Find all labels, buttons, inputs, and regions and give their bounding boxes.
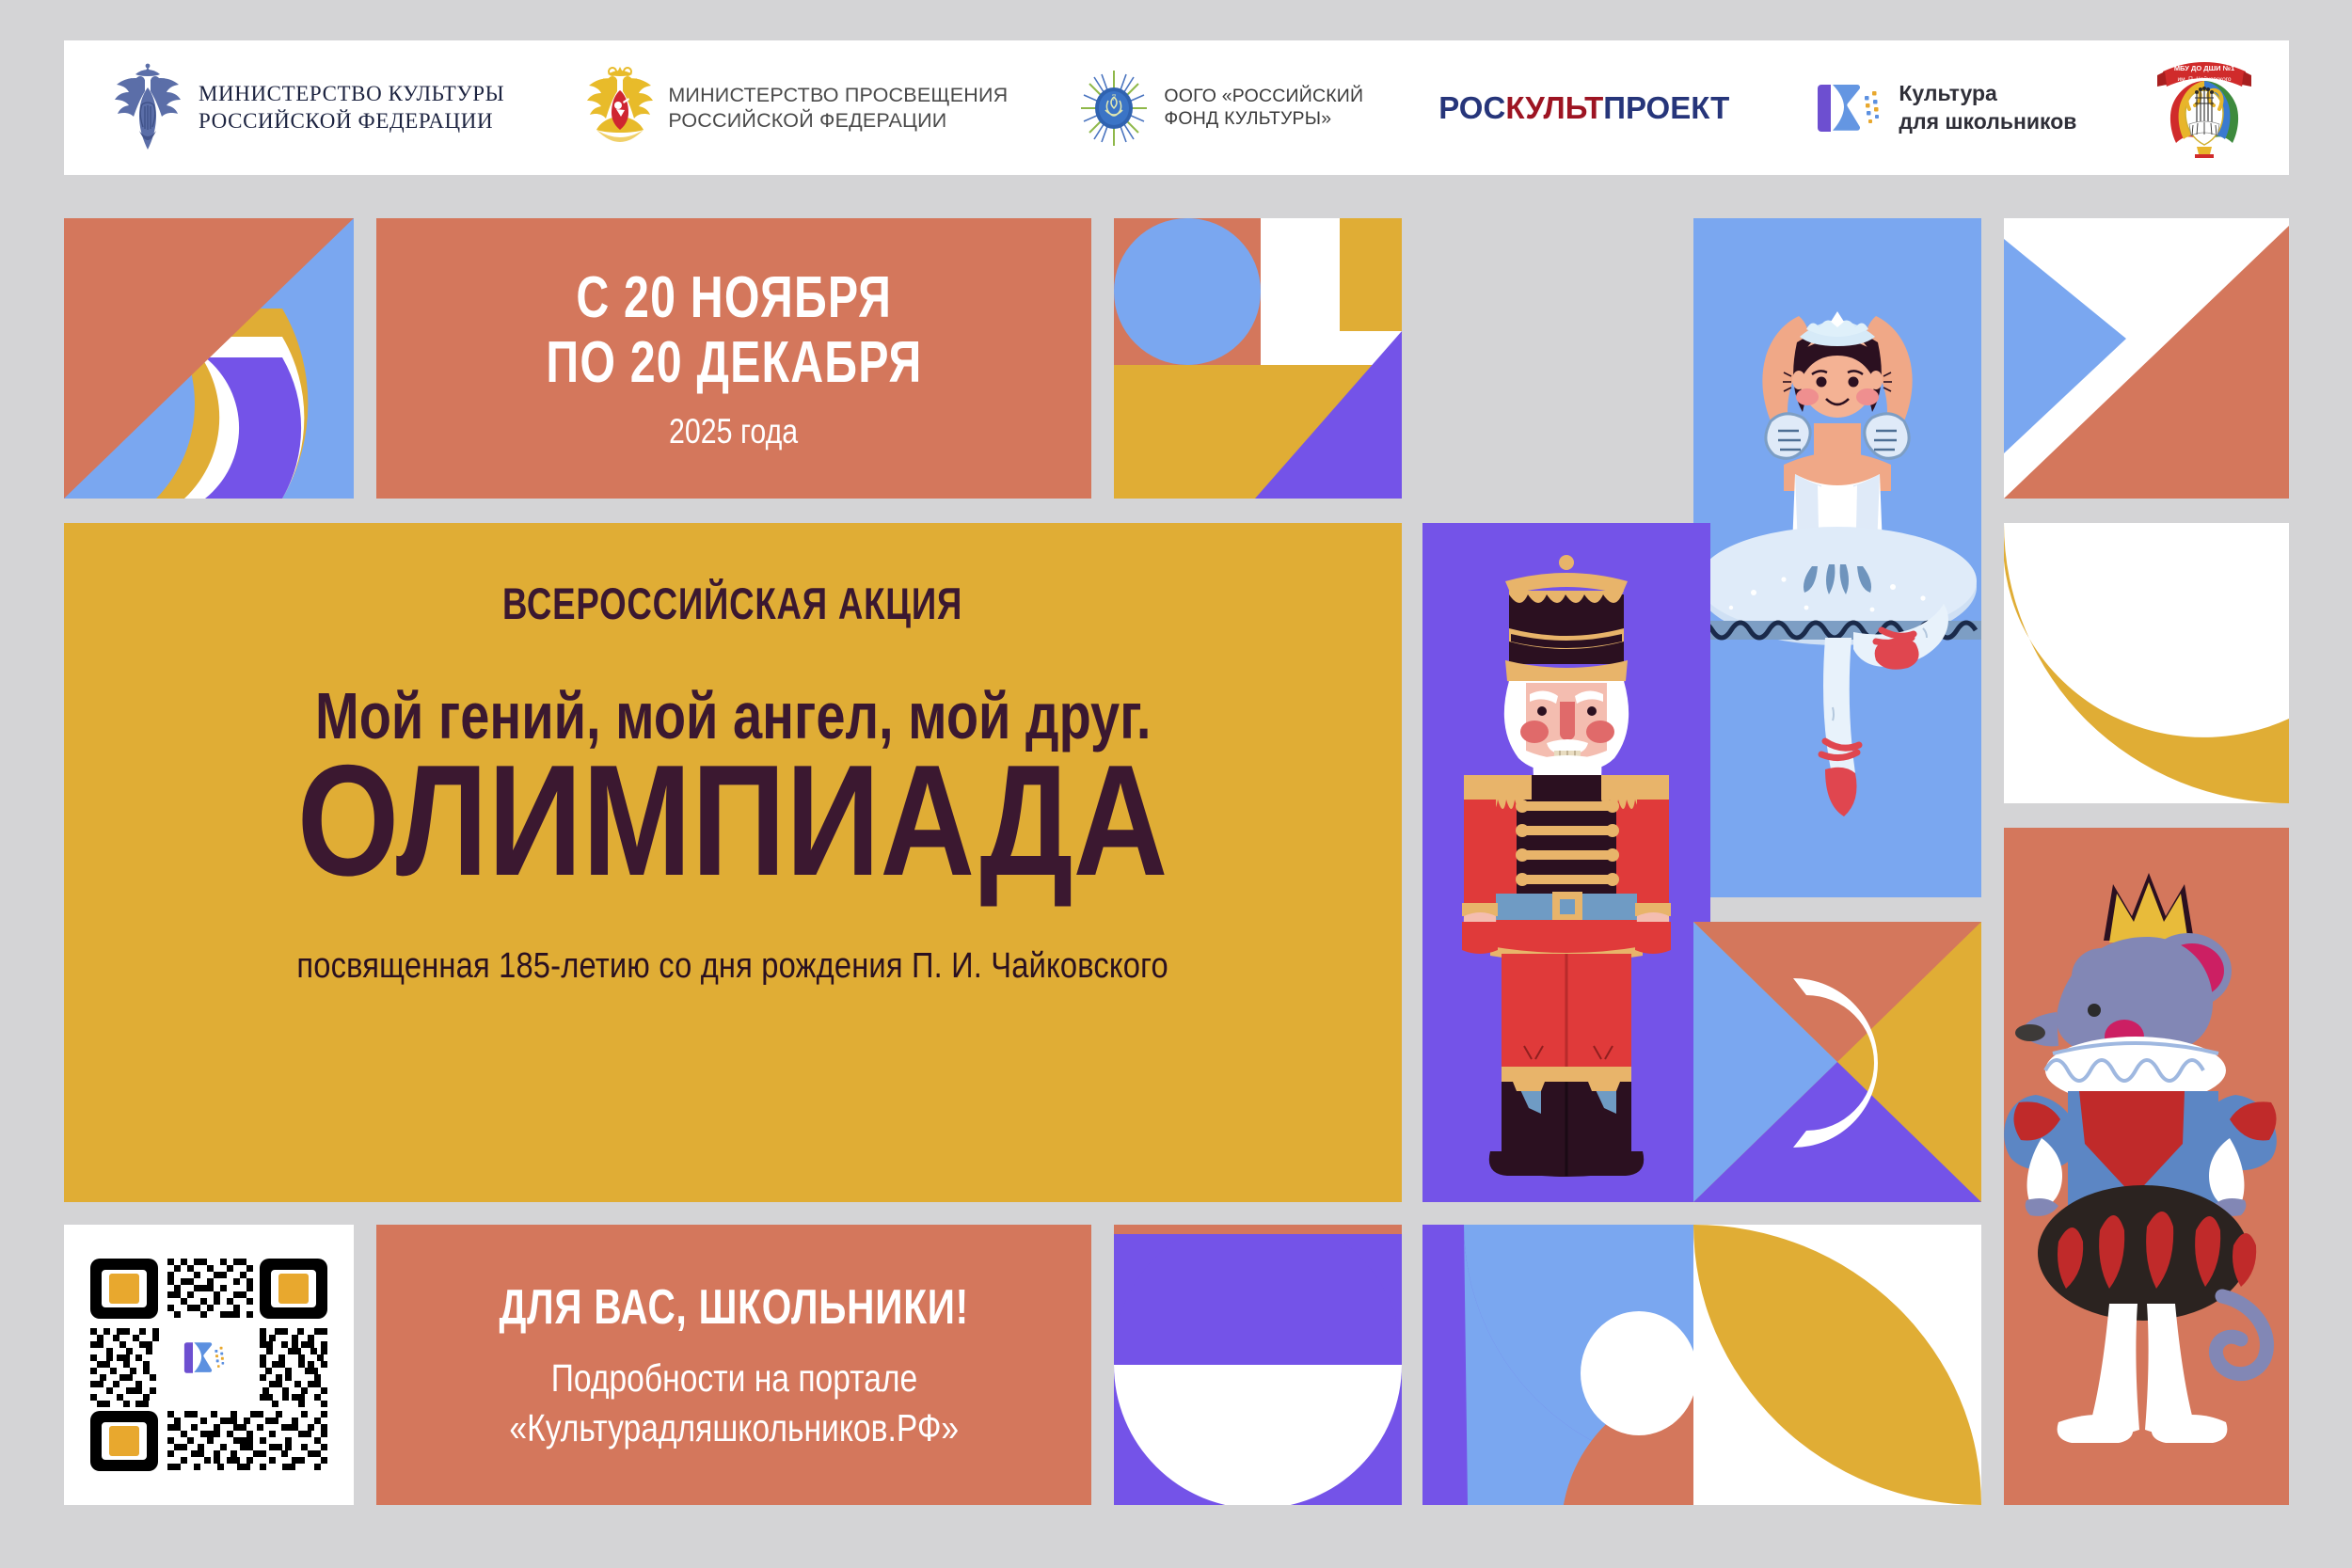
tile-two-triangles	[2004, 218, 2289, 499]
sponsor-logo-bar: МИНИСТЕРСТВО КУЛЬТУРЫ РОССИЙСКОЙ ФЕДЕРАЦ…	[64, 40, 2289, 175]
logo-line-1: Культура	[1899, 80, 2076, 108]
wordmark-part-3: ПРОЕКТ	[1603, 90, 1729, 125]
qr-code-kultura-dlya-shkolnikov[interactable]	[90, 1251, 327, 1479]
logo-russian-culture-fund: 7 ООГО «РОССИЙСКИЙ ФОНД КУЛЬТУРЫ»	[1077, 40, 1363, 175]
roskultproekt-wordmark: РОСКУЛЬТПРОЕКТ	[1438, 90, 1729, 126]
tile-gold-leaf	[1693, 1225, 1981, 1505]
logo-kultura-dlya-shkolnikov: Культура для школьников	[1812, 40, 2076, 175]
logo-line-2: РОССИЙСКОЙ ФЕДЕРАЦИИ	[668, 108, 1008, 133]
logo-label: МИНИСТЕРСТВО ПРОСВЕЩЕНИЯ РОССИЙСКОЙ ФЕДЕ…	[668, 83, 1008, 132]
radiant-star-monogram-emblem-icon: 7	[1077, 69, 1151, 148]
logo-line-2: ФОНД КУЛЬТУРЫ»	[1164, 108, 1363, 131]
date-line-to: ПО 20 ДЕКАБРЯ	[546, 330, 922, 395]
tile-circle-square-triangle	[1114, 218, 1402, 499]
logo-label: Культура для школьников	[1899, 80, 2076, 136]
logo-roskultproekt: РОСКУЛЬТПРОЕКТ	[1438, 40, 1729, 175]
wordmark-part-1: РОС	[1438, 90, 1505, 125]
footer-line-1: Подробности на портале	[550, 1356, 916, 1401]
logo-label: МИНИСТЕРСТВО КУЛЬТУРЫ РОССИЙСКОЙ ФЕДЕРАЦ…	[199, 81, 504, 134]
logo-line-2: для школьников	[1899, 108, 2076, 136]
dedication-text: посвященная 185-летию со дня рождения П.…	[297, 946, 1168, 987]
logo-line-1: ООГО «РОССИЙСКИЙ	[1164, 86, 1363, 108]
tile-gold-donut	[2004, 523, 2289, 803]
logo-music-school-tchaikovsky: МБУ ДО ДШИ №1 им. П. Чайковского	[2155, 40, 2253, 175]
tile-dates: С 20 НОЯБРЯ ПО 20 ДЕКАБРЯ 2025 года	[376, 218, 1091, 499]
kicker-text: ВСЕРОССИЙСКАЯ АКЦИЯ	[502, 578, 962, 629]
illustration-ballerina	[1693, 218, 1981, 897]
footer-heading: ДЛЯ ВАС, ШКОЛЬНИКИ!	[499, 1279, 969, 1336]
svg-text:МБУ ДО ДШИ №1: МБУ ДО ДШИ №1	[2174, 64, 2234, 72]
logo-ministry-of-education: МИНИСТЕРСТВО ПРОСВЕЩЕНИЯ РОССИЙСКОЙ ФЕДЕ…	[585, 40, 1008, 175]
svg-text:им. П. Чайковского: им. П. Чайковского	[2178, 75, 2232, 83]
tile-half-circle	[1114, 1225, 1402, 1505]
page-title: ОЛИМПИАДА	[297, 748, 1168, 894]
kds-book-logo-icon	[1812, 77, 1883, 139]
tile-four-triangles-ring	[1693, 922, 1981, 1202]
tile-footer-call-to-action: ДЛЯ ВАС, ШКОЛЬНИКИ! Подробности на порта…	[376, 1225, 1091, 1505]
logo-line-1: МИНИСТЕРСТВО КУЛЬТУРЫ	[199, 81, 504, 107]
date-year: 2025 года	[669, 412, 798, 451]
footer-portal-url[interactable]: «Культурадляшкольников.РФ»	[509, 1406, 959, 1450]
russian-eagle-blue-lyre-emblem-icon	[111, 63, 184, 153]
date-line-from: С 20 НОЯБРЯ	[576, 265, 892, 330]
tile-qr-code[interactable]	[64, 1225, 354, 1505]
tile-arcs-triangle	[64, 218, 354, 499]
logo-ministry-of-culture: МИНИСТЕРСТВО КУЛЬТУРЫ РОССИЙСКОЙ ФЕДЕРАЦ…	[111, 40, 504, 175]
logo-line-1: МИНИСТЕРСТВО ПРОСВЕЩЕНИЯ	[668, 83, 1008, 107]
tile-quarter-circle-dot	[1422, 1225, 1710, 1505]
wordmark-part-2: КУЛЬТ	[1505, 90, 1603, 125]
lyre-ribbon-emblem-icon: МБУ ДО ДШИ №1 им. П. Чайковского	[2155, 56, 2253, 160]
illustration-mouse-king	[2004, 828, 2289, 1505]
svg-text:7: 7	[1112, 93, 1117, 103]
logo-label: ООГО «РОССИЙСКИЙ ФОНД КУЛЬТУРЫ»	[1164, 86, 1363, 131]
tile-main-announcement: ВСЕРОССИЙСКАЯ АКЦИЯ Мой гений, мой ангел…	[64, 523, 1402, 1202]
logo-line-2: РОССИЙСКОЙ ФЕДЕРАЦИИ	[199, 108, 504, 135]
illustration-nutcracker-soldier	[1422, 523, 1710, 1202]
russian-eagle-gold-emblem-icon	[585, 64, 655, 152]
